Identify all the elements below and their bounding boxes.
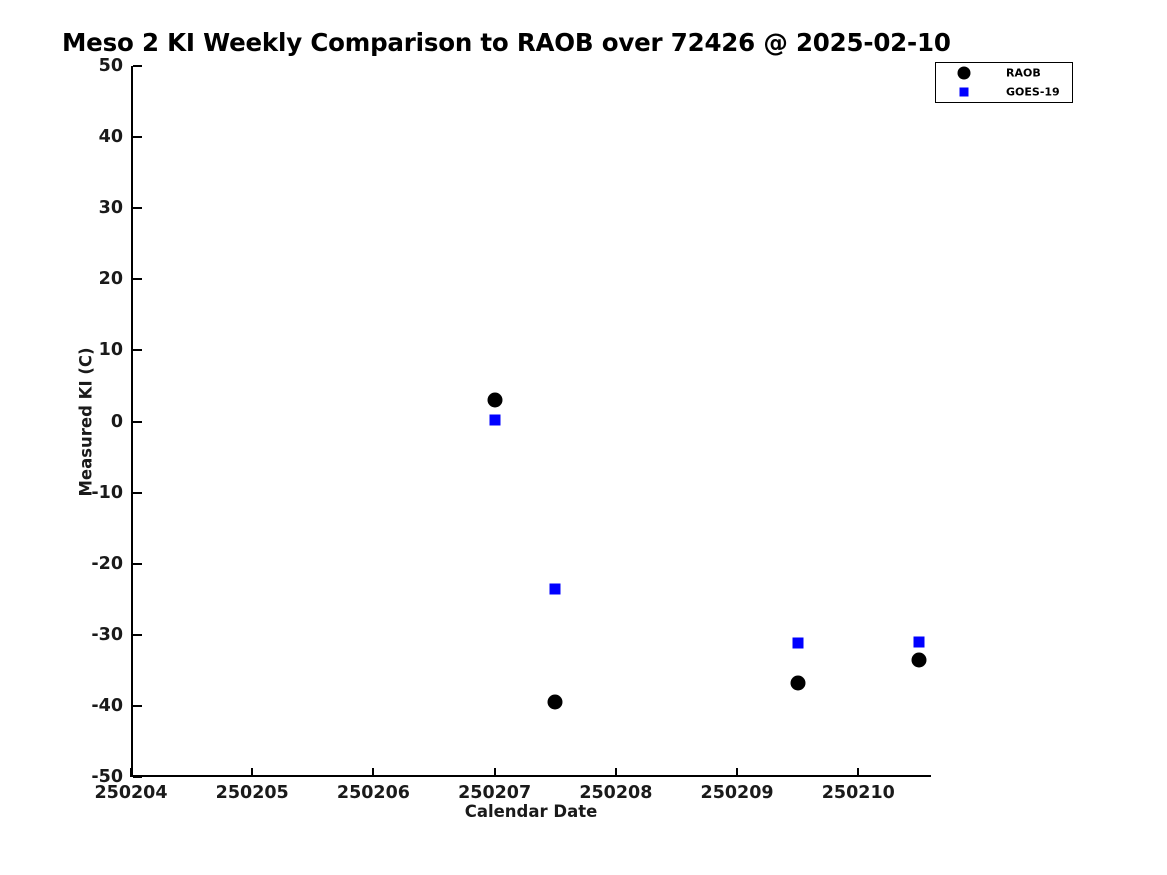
y-tick-label: 20 [99,269,123,289]
legend-label: RAOB [1006,66,1041,79]
chart-page: Meso 2 KI Weekly Comparison to RAOB over… [0,0,1167,875]
y-tick-mark [133,705,142,707]
y-tick-mark [133,563,142,565]
x-tick-label: 250207 [458,783,531,803]
data-point-raob [548,694,563,709]
x-tick-label: 250206 [337,783,410,803]
y-tick-label: 0 [111,412,123,432]
y-tick-mark [133,136,142,138]
x-tick-label: 250209 [701,783,774,803]
x-tick-label: 250205 [216,783,289,803]
y-tick-mark [133,421,142,423]
data-point-goes-19 [792,638,803,649]
data-point-raob [790,676,805,691]
x-tick-mark [736,768,738,777]
y-tick-label: -30 [91,625,123,645]
page-title: Meso 2 KI Weekly Comparison to RAOB over… [62,28,951,57]
data-point-raob [911,652,926,667]
data-point-goes-19 [489,415,500,426]
x-tick-mark [857,768,859,777]
x-tick-mark [494,768,496,777]
x-tick-mark [130,768,132,777]
x-tick-label: 250210 [822,783,895,803]
y-tick-mark [133,776,142,778]
y-tick-mark [133,65,142,67]
y-tick-label: 30 [99,198,123,218]
y-tick-label: 10 [99,340,123,360]
x-tick-mark [372,768,374,777]
x-axis-title: Calendar Date [465,802,598,821]
x-tick-mark [251,768,253,777]
y-tick-mark [133,634,142,636]
y-tick-mark [133,278,142,280]
y-tick-label: -40 [91,696,123,716]
legend-label: GOES-19 [1006,85,1060,98]
plot-area: 50403020100-10-20-30-40-50 2502042502052… [131,66,931,777]
legend: RAOBGOES-19 [935,62,1073,103]
legend-marker-square-icon [960,87,969,96]
y-tick-mark [133,349,142,351]
x-tick-mark [615,768,617,777]
y-axis-title: Measured KI (C) [77,347,96,496]
y-tick-mark [133,207,142,209]
legend-item-raob[interactable]: RAOB [936,63,1072,82]
y-tick-mark [133,492,142,494]
data-point-goes-19 [913,636,924,647]
x-tick-label: 250204 [94,783,167,803]
data-point-raob [487,393,502,408]
legend-marker-circle-icon [958,66,971,79]
y-tick-label: -20 [91,554,123,574]
data-point-goes-19 [550,584,561,595]
x-tick-label: 250208 [579,783,652,803]
y-tick-label: 50 [99,56,123,76]
legend-item-goes-19[interactable]: GOES-19 [936,82,1072,101]
y-tick-label: 40 [99,127,123,147]
y-tick-label: -10 [91,483,123,503]
